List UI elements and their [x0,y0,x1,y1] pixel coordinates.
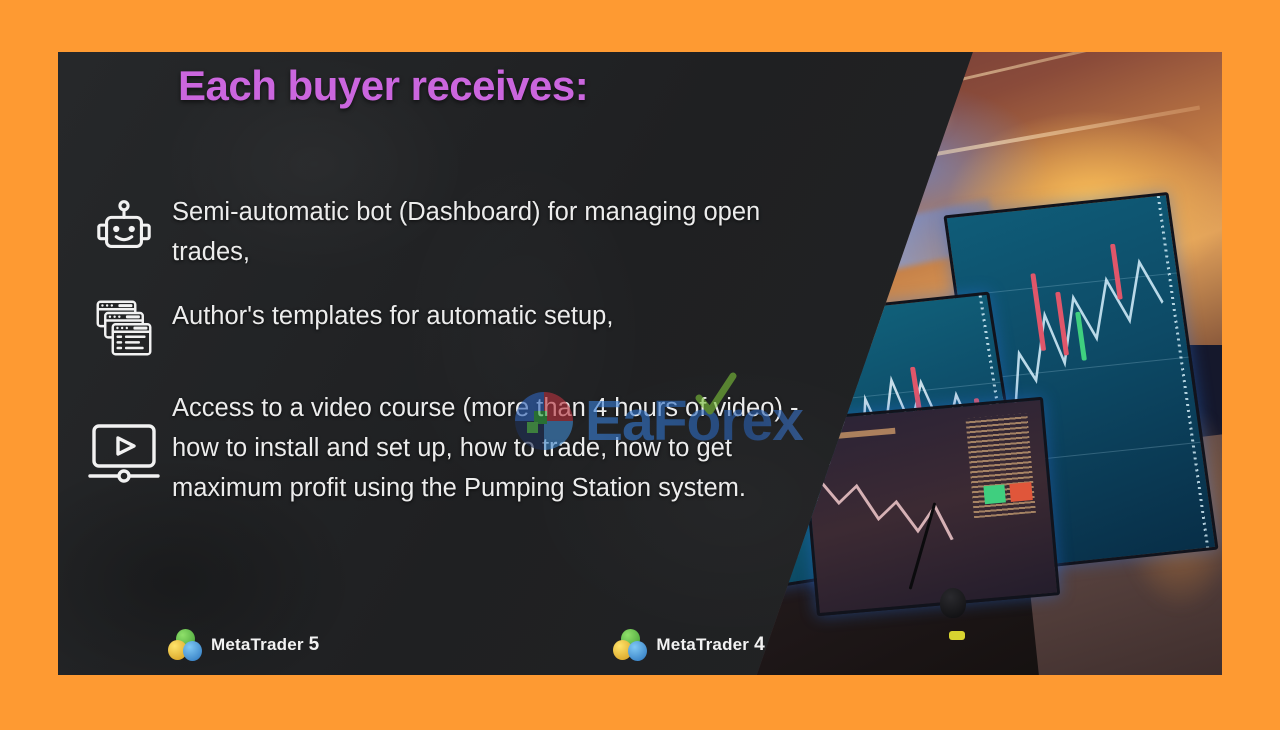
badge-label: MetaTrader 5 [211,634,319,656]
templates-windows-icon [76,296,172,358]
list-item: Author's templates for automatic setup, [76,296,836,358]
metatrader-5-badge: MetaTrader 5 [168,629,319,661]
badge-name: MetaTrader [211,635,304,654]
monitor-wide-terminal [800,397,1061,617]
badge-name: MetaTrader [656,635,749,654]
video-player-icon [76,388,172,484]
list-item: Access to a video course (more than 4 ho… [76,388,836,508]
list-item-label: Semi-automatic bot (Dashboard) for manag… [172,192,836,272]
badge-version: 4 [754,634,765,655]
computer-mouse [940,588,966,618]
metatrader-badges: MetaTrader 5 MetaTrader 4 [168,629,888,661]
metatrader-logo-icon [613,629,647,661]
robot-icon [76,192,172,260]
page-title: Each buyer receives: [178,62,588,110]
slide-panel: Each buyer receives: Semi-automatic bot … [58,52,1222,675]
metatrader-logo-icon [168,629,202,661]
ceiling-seam-bottom [774,105,1201,184]
metatrader-4-badge: MetaTrader 4 [613,629,764,661]
list-item-label: Access to a video course (more than 4 ho… [172,388,836,508]
badge-version: 5 [309,634,320,655]
benefits-list: Semi-automatic bot (Dashboard) for manag… [76,192,836,532]
macro-keypad [752,544,775,566]
ceiling-light [917,111,939,123]
chart-line-terminal [803,400,1057,613]
badge-label: MetaTrader 4 [656,634,764,656]
yellow-object [949,631,965,640]
list-item-label: Author's templates for automatic setup, [172,296,836,336]
list-item: Semi-automatic bot (Dashboard) for manag… [76,192,836,272]
